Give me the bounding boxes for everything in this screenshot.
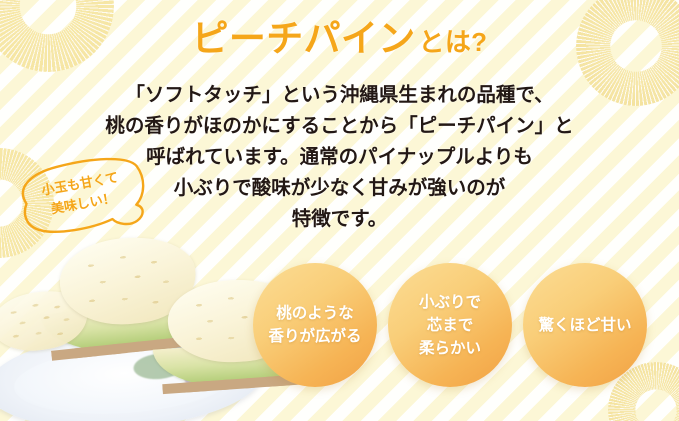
description-line: 「ソフトタッチ」という沖縄県生まれの品種で、 [0,80,679,111]
feature-circle-soft-core[interactable]: 小ぶりで 芯まで 柔らかい [388,263,512,387]
feature-line: 驚くほど甘い [538,314,631,337]
title-main: ピーチパイン [192,18,416,59]
feature-line: 桃のような [268,302,361,325]
feature-circle-peach-aroma[interactable]: 桃のような 香りが広がる [253,263,377,387]
feature-line: 柔らかい [419,337,481,360]
feature-label: 桃のような 香りが広がる [268,302,361,348]
promo-banner: ピーチパインとは? 「ソフトタッチ」という沖縄県生まれの品種で、 桃の香りがほの… [0,0,679,421]
product-photo [0,228,286,421]
page-title: ピーチパインとは? [0,20,679,57]
feature-label: 小ぶりで 芯まで 柔らかい [419,291,481,360]
feature-line: 香りが広がる [268,325,361,348]
feature-label: 驚くほど甘い [538,314,631,337]
title-suffix: とは? [419,27,488,57]
feature-circle-very-sweet[interactable]: 驚くほど甘い [523,263,647,387]
description-line: 桃の香りがほのかにすることから「ピーチパイン」と [0,111,679,142]
feature-line: 芯まで [419,314,481,337]
feature-line: 小ぶりで [419,291,481,314]
